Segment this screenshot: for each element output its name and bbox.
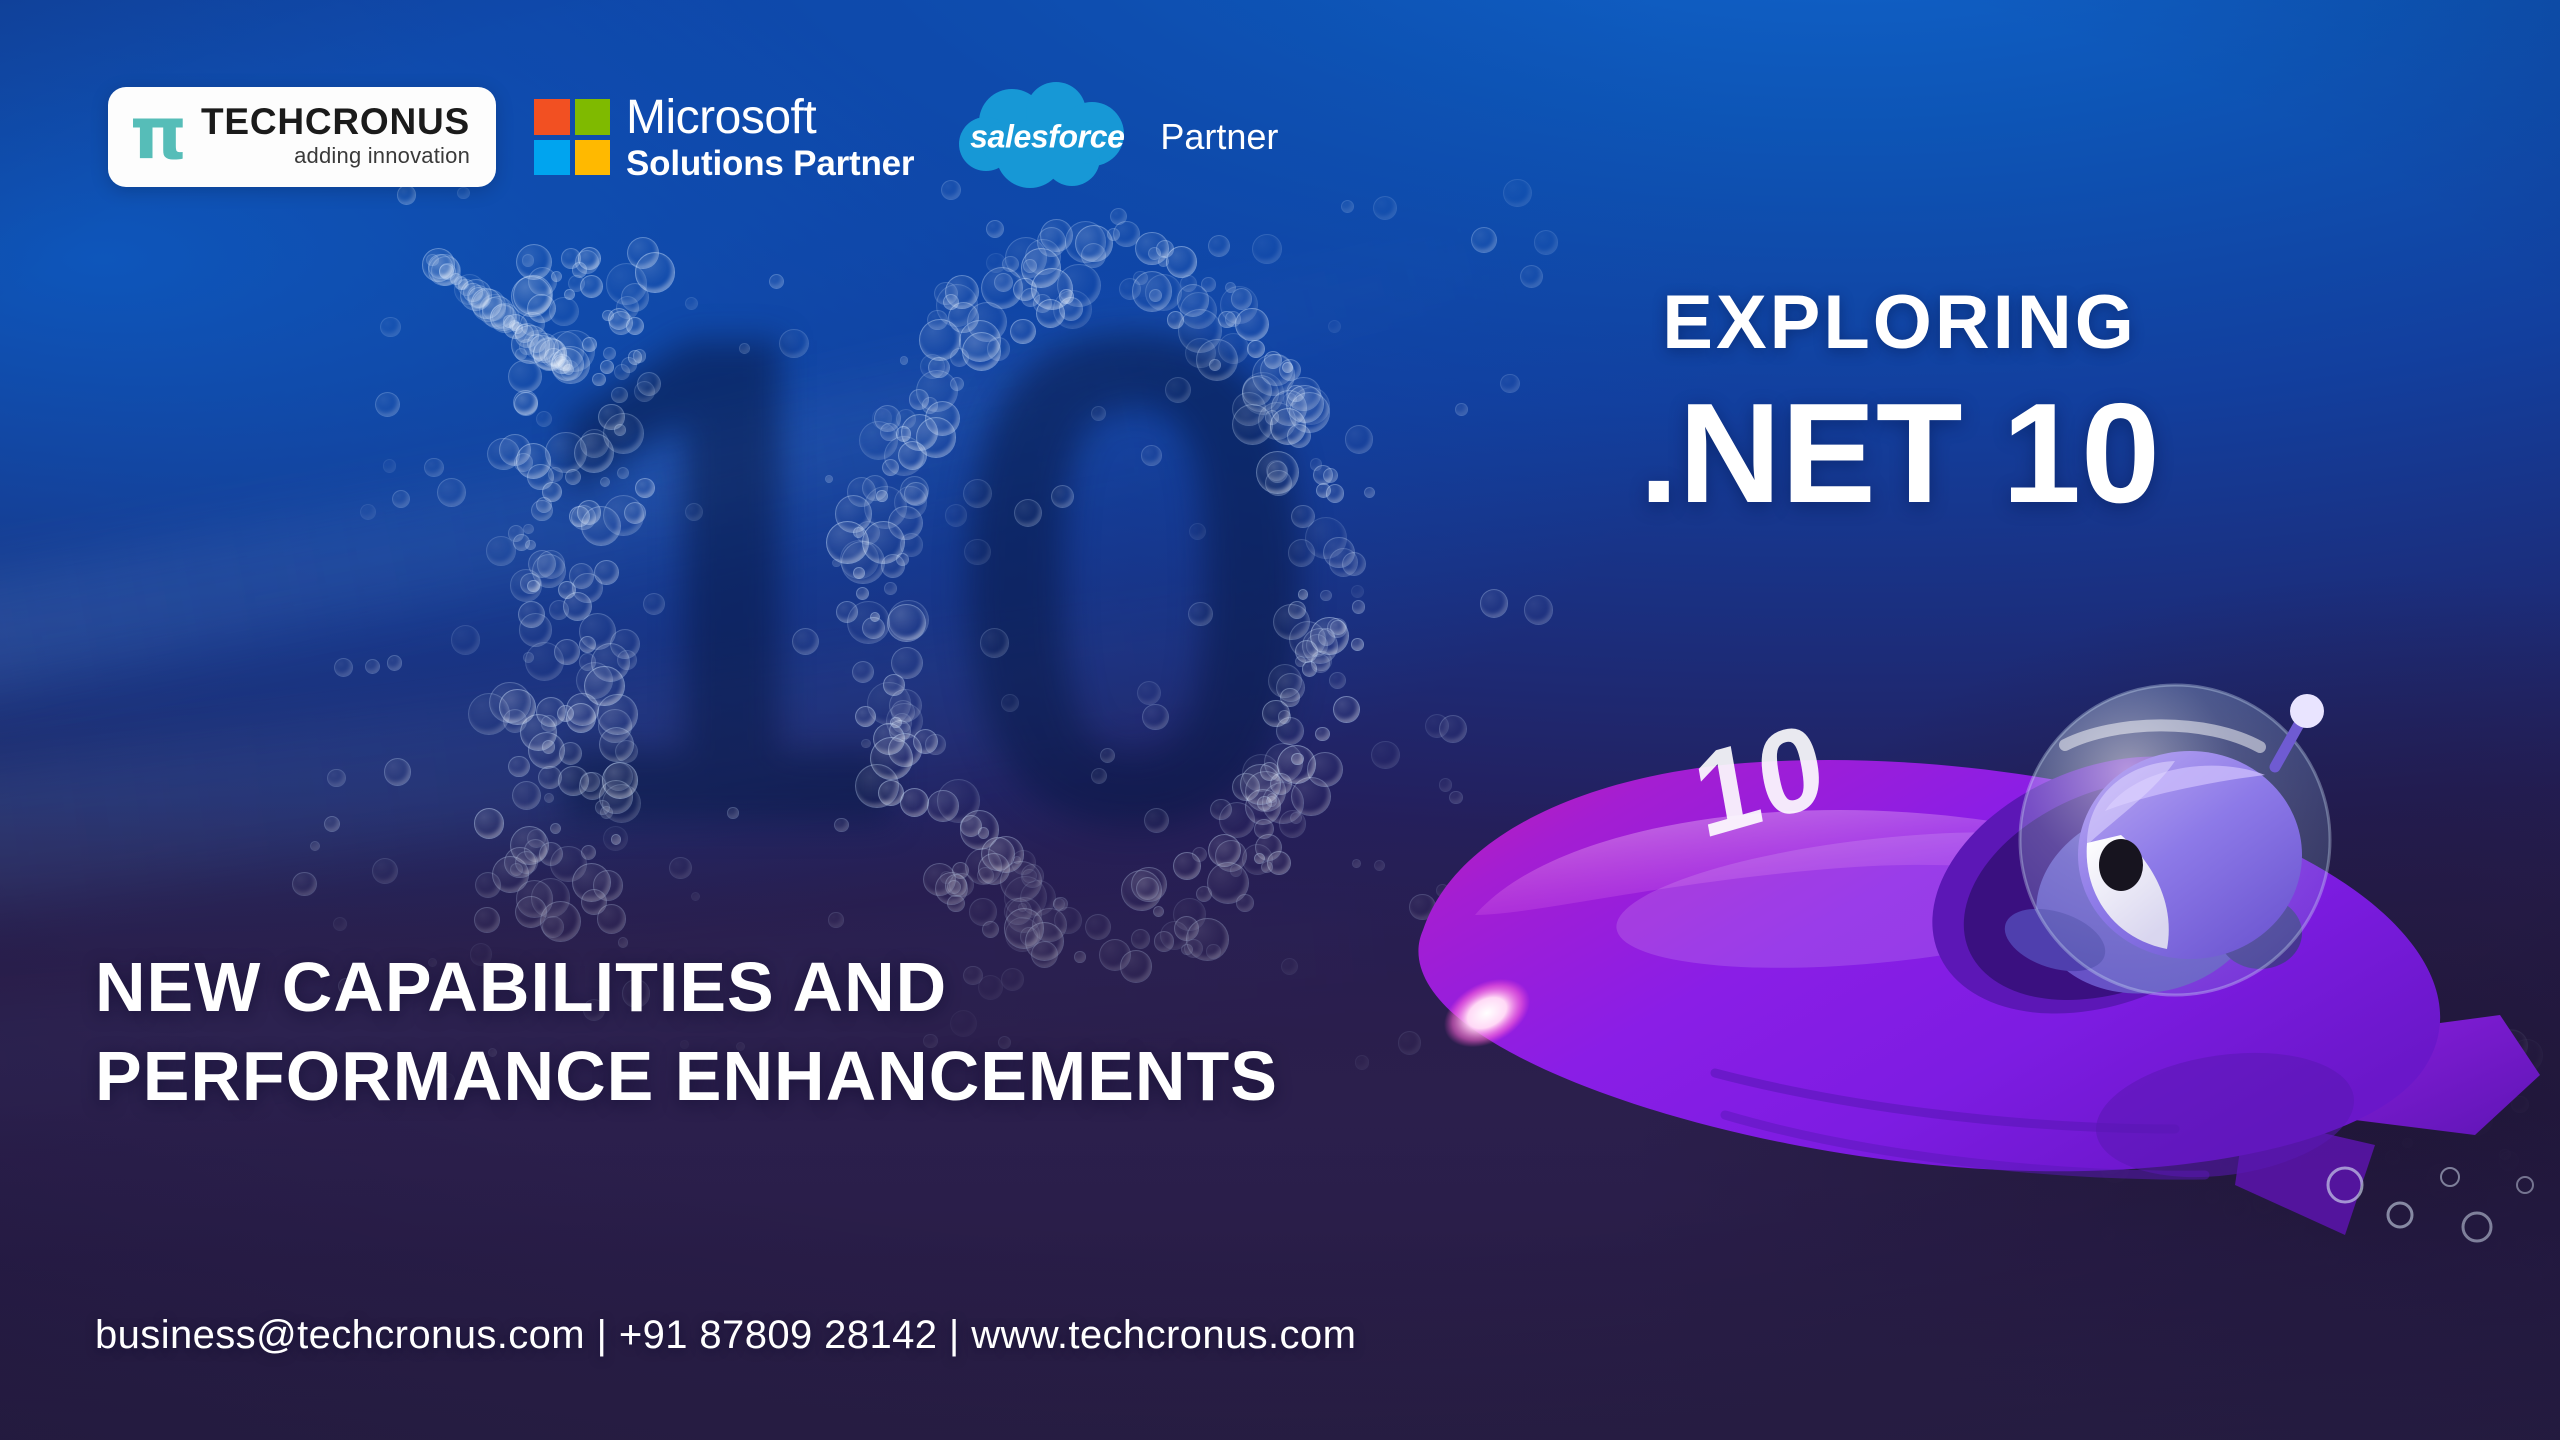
salesforce-wordmark: salesforce bbox=[952, 119, 1142, 156]
salesforce-cloud-icon: salesforce bbox=[952, 82, 1142, 192]
square-blue-icon bbox=[534, 140, 570, 176]
salesforce-partner-label: Partner bbox=[1160, 116, 1278, 158]
techcronus-name: TECHCRONUS bbox=[201, 103, 470, 142]
techcronus-wordmark: TECHCRONUS adding innovation bbox=[201, 103, 470, 170]
microsoft-name: Microsoft bbox=[626, 94, 914, 142]
page-headline: NEW CAPABILITIES AND PERFORMANCE ENHANCE… bbox=[95, 943, 1278, 1122]
square-orange-icon bbox=[534, 99, 570, 135]
square-yellow-icon bbox=[575, 140, 611, 176]
microsoft-solutions-partner-logo[interactable]: Microsoft Solutions Partner bbox=[534, 94, 914, 181]
partner-logo-strip: π TECHCRONUS adding innovation Microsoft… bbox=[108, 82, 1278, 192]
microsoft-wordmark: Microsoft Solutions Partner bbox=[626, 94, 914, 181]
salesforce-partner-logo[interactable]: salesforce Partner bbox=[952, 82, 1278, 192]
headline-line-2: PERFORMANCE ENHANCEMENTS bbox=[95, 1032, 1278, 1122]
submarine-illustration: 10 bbox=[1415, 715, 2560, 1335]
hero-eyebrow: EXPLORING bbox=[1639, 285, 2160, 361]
hero-title: .NET 10 bbox=[1639, 383, 2160, 525]
microsoft-program-name: Solutions Partner bbox=[626, 146, 914, 181]
microsoft-squares-icon bbox=[534, 99, 610, 175]
techcronus-tagline: adding innovation bbox=[294, 143, 470, 169]
pi-icon: π bbox=[130, 105, 187, 161]
banner-canvas: 10 bbox=[0, 0, 2560, 1440]
hero-title-block: EXPLORING .NET 10 bbox=[1639, 285, 2160, 525]
mascot-eye bbox=[2099, 839, 2143, 891]
mascot-antenna-tip bbox=[2290, 694, 2324, 728]
contact-info[interactable]: business@techcronus.com | +91 87809 2814… bbox=[95, 1313, 1356, 1358]
square-green-icon bbox=[575, 99, 611, 135]
headline-line-1: NEW CAPABILITIES AND bbox=[95, 943, 1278, 1033]
techcronus-logo-card[interactable]: π TECHCRONUS adding innovation bbox=[108, 87, 496, 188]
